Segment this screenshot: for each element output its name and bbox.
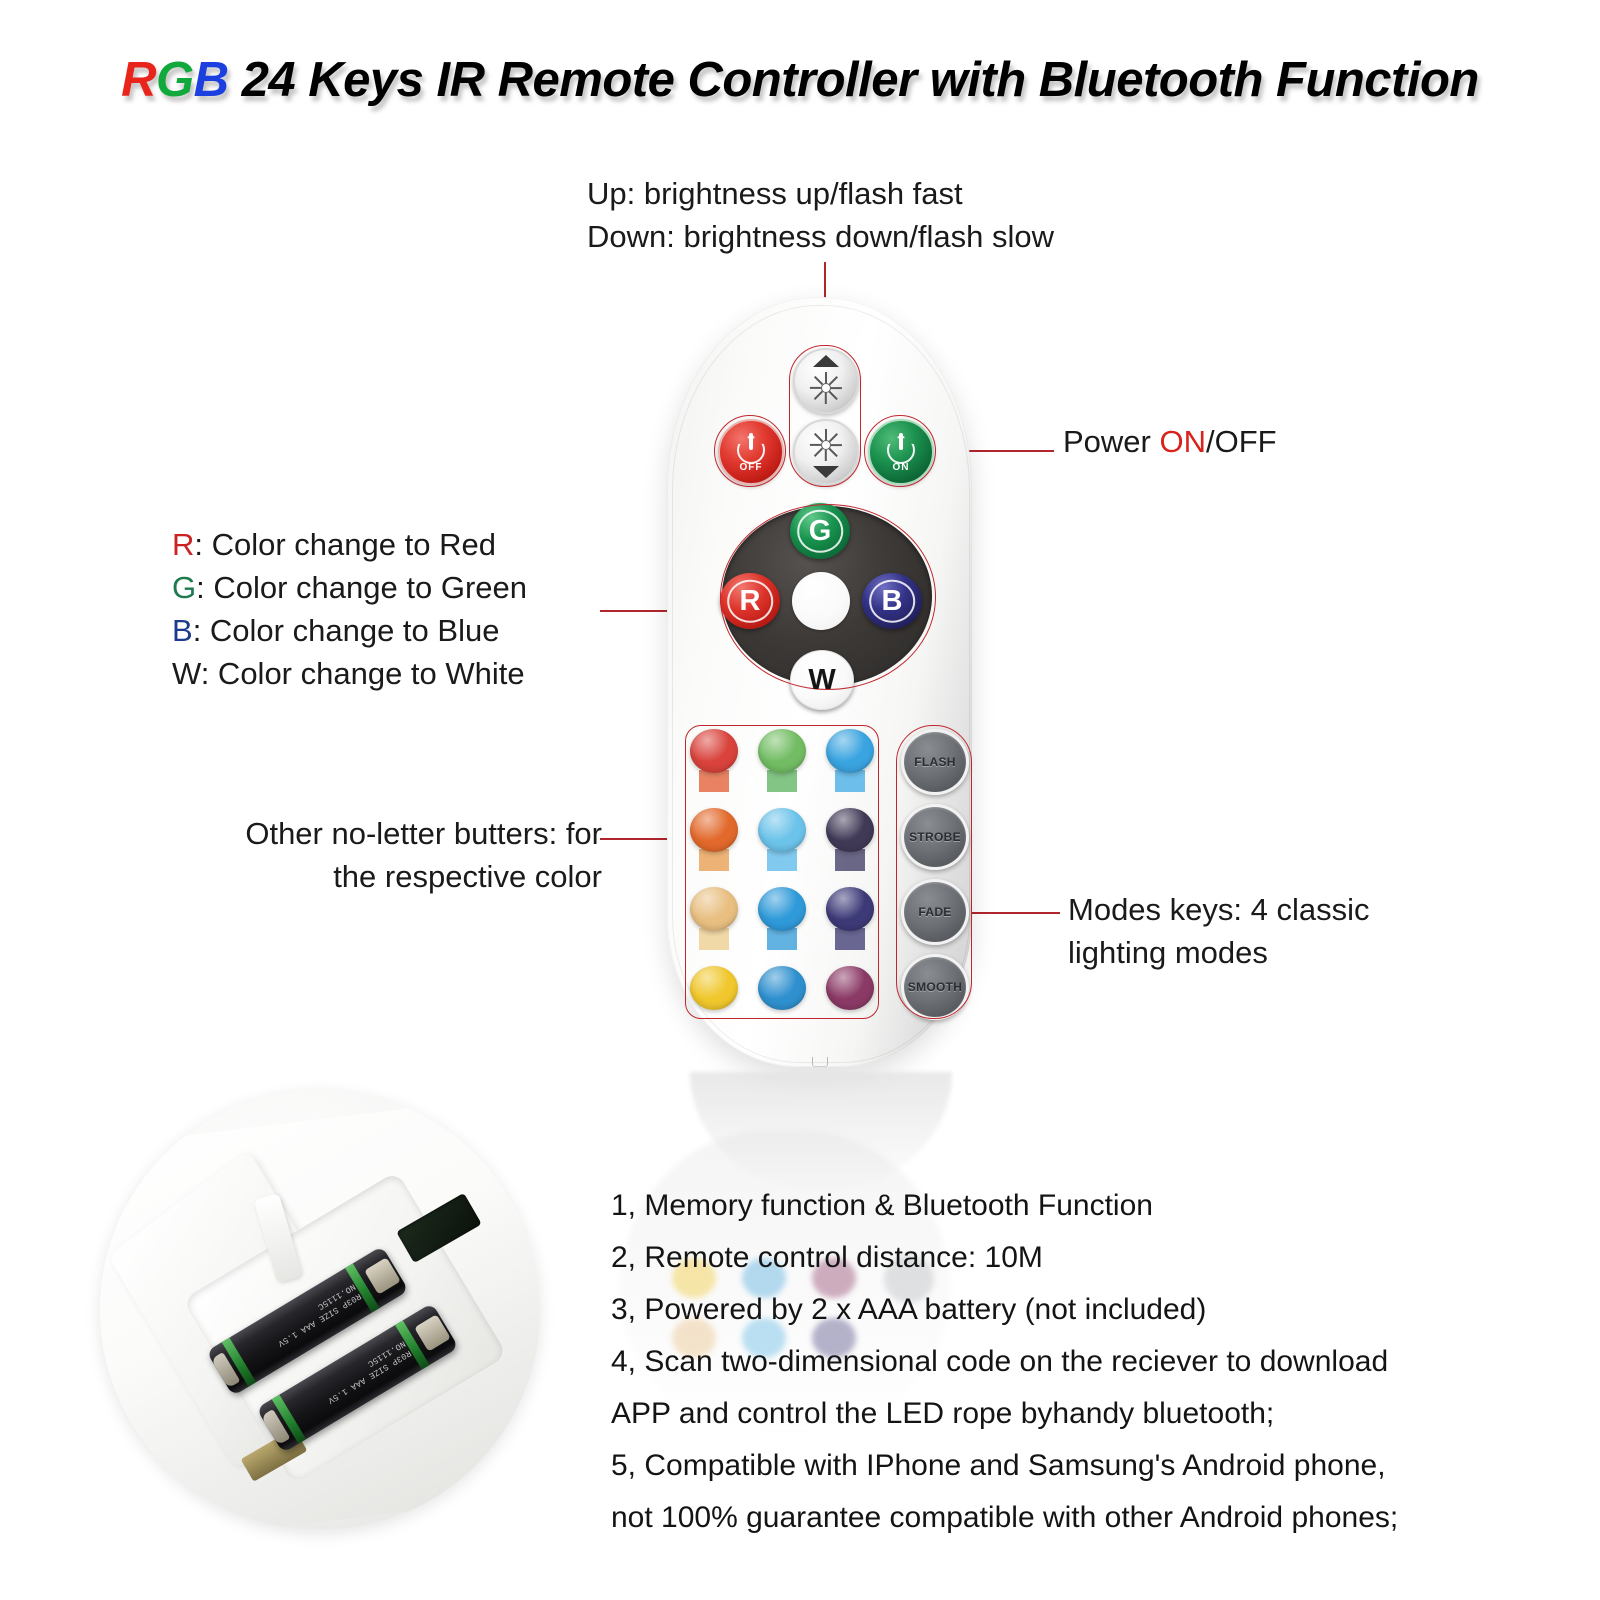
title-letter-g: G	[156, 53, 194, 107]
annotation-rgbw-row: W: Color change to White	[172, 652, 527, 695]
annotation-power-suffix: /OFF	[1206, 424, 1277, 459]
color-button-blue-label: B	[882, 585, 903, 618]
annotation-other-line2: the respective color	[172, 855, 602, 898]
feature-item: not 100% guarantee compatible with other…	[611, 1492, 1511, 1544]
highlight-power-off	[714, 415, 786, 487]
annotation-brightness-line1: Up: brightness up/flash fast	[587, 172, 1054, 215]
rgbw-text-b: : Color change to Blue	[193, 613, 500, 648]
annotation-modes: Modes keys: 4 classic lighting modes	[1068, 888, 1370, 974]
rgbw-letter-b: B	[172, 613, 193, 648]
color-button-green-label: G	[809, 515, 832, 548]
page-title: RGB 24 Keys IR Remote Controller with Bl…	[0, 52, 1600, 108]
title-letter-r: R	[121, 53, 156, 107]
feature-item: 1, Memory function & Bluetooth Function	[611, 1180, 1511, 1232]
title-letter-b: B	[194, 53, 229, 107]
rgbw-text-w: : Color change to White	[201, 656, 525, 691]
annotation-power-on: ON	[1159, 424, 1206, 459]
rgbw-letter-r: R	[172, 527, 194, 562]
rgbw-text-r: : Color change to Red	[194, 527, 496, 562]
annotation-rgbw: R: Color change to Red G: Color change t…	[172, 523, 527, 695]
highlight-mode-buttons	[896, 725, 972, 1019]
annotation-other-buttons: Other no-letter butters: for the respect…	[172, 812, 602, 898]
color-button-white-label: W	[808, 664, 835, 697]
highlight-brightness	[789, 345, 861, 487]
battery-compartment-photo: R03P SIZE AAA 1.5V NO.1115C R03P SIZE AA…	[100, 1090, 540, 1530]
feature-item: 5, Compatible with IPhone and Samsung's …	[611, 1440, 1511, 1492]
rgbw-text-g: : Color change to Green	[196, 570, 527, 605]
feature-item: 4, Scan two-dimensional code on the reci…	[611, 1336, 1511, 1388]
title-rest: 24 Keys IR Remote Controller with Blueto…	[229, 53, 1479, 107]
highlight-color-grid	[685, 725, 879, 1019]
annotation-power: Power ON/OFF	[1063, 420, 1277, 463]
annotation-rgbw-row: R: Color change to Red	[172, 523, 527, 566]
annotation-rgbw-row: G: Color change to Green	[172, 566, 527, 609]
highlight-power-on	[864, 415, 936, 487]
annotation-rgbw-row: B: Color change to Blue	[172, 609, 527, 652]
annotation-other-line1: Other no-letter butters: for	[172, 812, 602, 855]
rgbw-letter-w: W	[172, 656, 201, 691]
feature-item: 2, Remote control distance: 10M	[611, 1232, 1511, 1284]
feature-item: APP and control the LED rope byhandy blu…	[611, 1388, 1511, 1440]
rgbw-letter-g: G	[172, 570, 196, 605]
annotation-power-prefix: Power	[1063, 424, 1159, 459]
annotation-modes-line2: lighting modes	[1068, 931, 1370, 974]
feature-list: 1, Memory function & Bluetooth Function …	[611, 1180, 1511, 1544]
annotation-brightness: Up: brightness up/flash fast Down: brigh…	[587, 172, 1054, 258]
annotation-modes-line1: Modes keys: 4 classic	[1068, 888, 1370, 931]
remote-bottom-notch	[812, 1057, 828, 1067]
annotation-brightness-line2: Down: brightness down/flash slow	[587, 215, 1054, 258]
color-button-red-label: R	[740, 585, 761, 618]
feature-item: 3, Powered by 2 x AAA battery (not inclu…	[611, 1284, 1511, 1336]
